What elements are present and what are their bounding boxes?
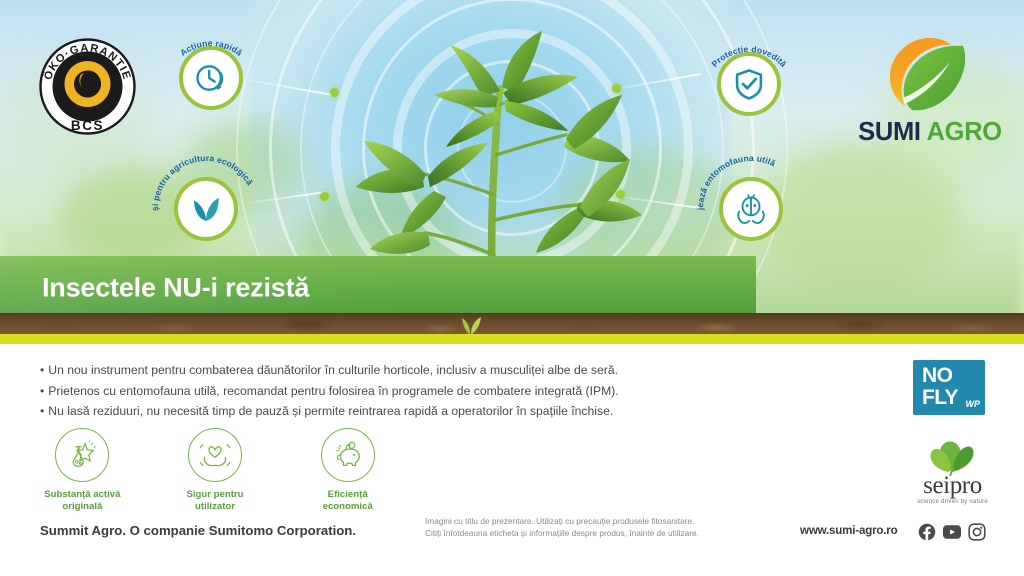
feature-label-line2: utilizator xyxy=(195,501,235,512)
oko-garantie-bcs-badge: ÖKO·GARANTIE BCS xyxy=(36,35,139,138)
connector-dot xyxy=(330,88,339,97)
footer-website[interactable]: www.sumi-agro.ro xyxy=(800,524,898,537)
seipro-wordmark: seipro xyxy=(905,472,1000,500)
bullet-text: Nu lasă reziduuri, nu necesită timp de p… xyxy=(48,404,613,418)
callout-protectie-dovedita[interactable]: Protecție dovedită xyxy=(703,38,795,130)
connector-dot xyxy=(616,190,625,199)
heart-hands-icon xyxy=(200,440,230,470)
nofly-wordmark: NO FLY xyxy=(922,365,958,408)
callout-agricultura-ecologica[interactable]: Recomandat și pentru agricultura ecologi… xyxy=(155,158,257,260)
connector-dot xyxy=(612,84,621,93)
agro-word: AGRO xyxy=(927,118,1002,146)
callout-disc xyxy=(174,177,238,241)
list-item: •Un nou instrument pentru combaterea dău… xyxy=(40,360,700,381)
nofly-line1: NO xyxy=(922,364,952,387)
bullet-marker: • xyxy=(40,384,44,398)
ginkgo-leaves-icon xyxy=(905,438,1000,476)
feature-sigur-utilizator[interactable]: Sigur pentru utilizator xyxy=(168,428,263,513)
feature-label-line2: economică xyxy=(323,501,373,512)
sumi-agro-wordmark: SUMI AGRO xyxy=(855,118,1005,147)
seipro-logo: seipro science driven by nature xyxy=(905,438,1000,508)
callout-entomofauna-utila[interactable]: Protejează entomofauna utilă xyxy=(700,158,802,260)
piggy-bank-icon xyxy=(333,440,363,470)
connector-dot xyxy=(320,192,329,201)
feature-label: Substanță activă originală xyxy=(35,489,130,513)
feature-label-line1: Sigur pentru xyxy=(186,489,243,500)
feature-label: Eficiență economică xyxy=(300,489,395,513)
bullet-text: Prietenos cu entomofauna utilă, recomand… xyxy=(48,384,618,398)
footer-legal: Imagini cu titlu de prezentare. Utilizaț… xyxy=(425,516,795,539)
leaves-icon xyxy=(189,192,223,226)
shield-check-icon xyxy=(732,67,766,101)
nofly-product-logo: NO FLY WP xyxy=(913,360,985,415)
list-item: •Nu lasă reziduuri, nu necesită timp de … xyxy=(40,401,700,422)
flask-star-icon xyxy=(67,440,97,470)
soil-strip xyxy=(0,313,1024,335)
feature-label-line2: originală xyxy=(62,501,102,512)
feature-label-line1: Eficiență xyxy=(328,489,368,500)
feature-icon-row: Substanță activă originală Sigur pentru … xyxy=(35,428,395,513)
footer-legal-line1: Imagini cu titlu de prezentare. Utilizaț… xyxy=(425,516,795,528)
social-links xyxy=(918,523,986,541)
footer-company: Summit Agro. O companie Sumitomo Corpora… xyxy=(40,523,356,538)
bullet-marker: • xyxy=(40,404,44,418)
callout-disc xyxy=(717,52,781,116)
sumi-agro-mark xyxy=(855,32,1005,114)
bullet-text: Un nou instrument pentru combaterea dăun… xyxy=(48,363,618,377)
feature-circle xyxy=(321,428,375,482)
feature-circle xyxy=(188,428,242,482)
list-item: •Prietenos cu entomofauna utilă, recoman… xyxy=(40,381,700,402)
sumi-word: SUMI xyxy=(858,118,921,146)
clock-arrow-icon xyxy=(193,60,229,96)
soil-sprout-icon xyxy=(440,312,500,334)
feature-label: Sigur pentru utilizator xyxy=(168,489,263,513)
feature-label-line1: Substanță activă xyxy=(44,489,120,500)
accent-strip xyxy=(0,334,1024,344)
page-title: Insectele NU-i rezistă xyxy=(42,273,309,304)
nofly-line2: FLY xyxy=(922,386,958,409)
callout-disc xyxy=(719,177,783,241)
footer-legal-line2: Citiți întotdeauna eticheta și informați… xyxy=(425,528,795,540)
feature-circle xyxy=(55,428,109,482)
facebook-icon[interactable] xyxy=(918,523,936,541)
ladybug-hands-icon xyxy=(734,192,768,226)
bullet-list: •Un nou instrument pentru combaterea dău… xyxy=(40,360,700,422)
seipro-tagline: science driven by nature xyxy=(905,498,1000,505)
bullet-marker: • xyxy=(40,363,44,377)
callout-disc xyxy=(179,46,243,110)
instagram-icon[interactable] xyxy=(968,523,986,541)
feature-eficienta-economica[interactable]: Eficiență economică xyxy=(300,428,395,513)
youtube-icon[interactable] xyxy=(942,523,962,541)
svg-text:BCS: BCS xyxy=(71,118,104,133)
nofly-suffix: WP xyxy=(966,399,981,409)
feature-substanta-activa[interactable]: Substanță activă originală xyxy=(35,428,130,513)
sumi-agro-logo: SUMI AGRO xyxy=(855,32,1005,147)
callout-actiune-rapida[interactable]: Acțiune rapidă xyxy=(165,32,257,124)
